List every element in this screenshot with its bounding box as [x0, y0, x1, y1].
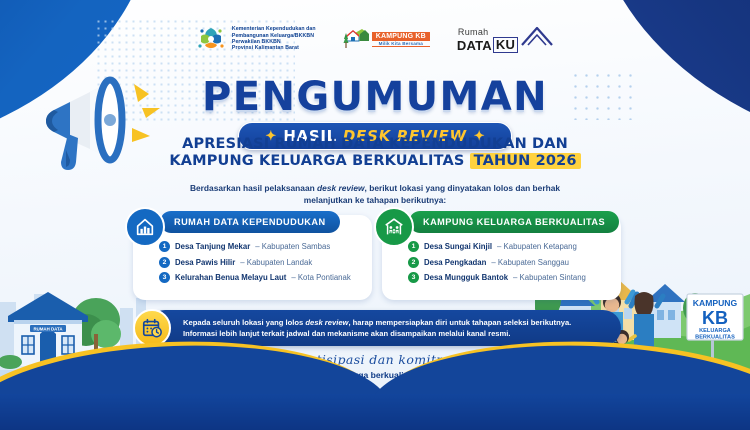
- svg-text:RUMAH DATA: RUMAH DATA: [33, 327, 63, 332]
- list-item: 1 Desa Tanjung Mekar – Kabupaten Sambas: [159, 241, 366, 252]
- notice-line-1-part-1: Kepada seluruh lokasi yang lolos: [183, 318, 305, 327]
- house-chart-icon: [125, 207, 165, 247]
- list-item: 1 Desa Sungai Kinjil – Kabupaten Ketapan…: [408, 241, 615, 252]
- item-number: 2: [408, 257, 419, 268]
- list-item: 3 Desa Mungguk Bantok – Kabupaten Sintan…: [408, 272, 615, 283]
- item-number: 1: [159, 241, 170, 252]
- svg-text:KAMPUNG: KAMPUNG: [693, 298, 738, 308]
- item-number: 1: [408, 241, 419, 252]
- results-cards: RUMAH DATA KEPENDUDUKAN 1 Desa Tanjung M…: [133, 215, 621, 300]
- page-title: PENGUMUMAN: [0, 74, 750, 120]
- item-name: Kelurahan Benua Melayu Laut: [175, 273, 286, 282]
- rumah-dataku-ku-text: KU: [493, 37, 518, 53]
- bkkbn-logo: Kementerian Kependudukan dan Pembangunan…: [196, 24, 316, 54]
- svg-text:KELUARGA: KELUARGA: [699, 328, 731, 334]
- kampung-kb-logo-title: KAMPUNG KB: [372, 32, 430, 41]
- card-rumah-data-kependudukan: RUMAH DATA KEPENDUDUKAN 1 Desa Tanjung M…: [133, 215, 372, 300]
- notice-banner: Kepada seluruh lokasi yang lolos desk re…: [147, 310, 621, 346]
- list-item: 2 Desa Pengkadan – Kabupaten Sanggau: [408, 257, 615, 268]
- notice-line-1: Kepada seluruh lokasi yang lolos desk re…: [183, 317, 571, 329]
- item-region: – Kabupaten Ketapang: [497, 242, 577, 251]
- lead-paragraph: Berdasarkan hasil pelaksanaan desk revie…: [165, 182, 585, 206]
- item-name: Desa Pawis Hilir: [175, 258, 235, 267]
- svg-text:KB: KB: [702, 308, 728, 328]
- logo-bar: Kementerian Kependudukan dan Pembangunan…: [0, 24, 750, 54]
- rumah-dataku-data-text: DATA: [457, 39, 492, 52]
- rumah-dataku-house-icon: [520, 25, 554, 47]
- notice-line-1-part-2: , harap mempersiapkan diri untuk tahapan…: [348, 318, 571, 327]
- list-item: 2 Desa Pawis Hilir – Kabupaten Landak: [159, 257, 366, 268]
- kampung-kb-logo: KAMPUNG KB Milik Kita Bersama: [340, 25, 433, 53]
- item-name: Desa Pengkadan: [424, 258, 486, 267]
- item-region: – Kota Pontianak: [291, 273, 350, 282]
- rumah-dataku-rumah-text: Rumah: [458, 28, 518, 37]
- item-name: Desa Mungguk Bantok: [424, 273, 508, 282]
- bkkbn-logo-text: Kementerian Kependudukan dan Pembangunan…: [232, 26, 316, 52]
- item-number: 3: [408, 272, 419, 283]
- card-title-kampung-kb: KAMPUNG KELUARGA BERKUALITAS: [409, 211, 619, 233]
- subtitle-block: APRESIASI RUMAH DATA KEPENDUDUKAN DAN KA…: [0, 136, 750, 170]
- rumah-dataku-logo: Rumah DATA KU: [457, 25, 554, 53]
- bkkbn-emblem-icon: [196, 24, 226, 54]
- subtitle-line-1: APRESIASI RUMAH DATA KEPENDUDUKAN DAN: [0, 136, 750, 153]
- notice-line-2: Informasi lebih lanjut terkait jadwal da…: [183, 328, 571, 340]
- svg-text:BERKUALITAS: BERKUALITAS: [695, 335, 735, 341]
- item-region: – Kabupaten Sambas: [255, 242, 330, 251]
- item-region: – Kabupaten Landak: [240, 258, 312, 267]
- kampung-kb-logo-tagline: Milik Kita Bersama: [372, 41, 430, 47]
- subtitle-line-2: KAMPUNG KELUARGA BERKUALITAS: [169, 153, 464, 169]
- announcement-poster: Kementerian Kependudukan dan Pembangunan…: [0, 0, 750, 430]
- item-number: 2: [159, 257, 170, 268]
- item-name: Desa Sungai Kinjil: [424, 242, 492, 251]
- list-item: 3 Kelurahan Benua Melayu Laut – Kota Pon…: [159, 272, 366, 283]
- card-kampung-keluarga-berkualitas: KAMPUNG KELUARGA BERKUALITAS 1 Desa Sung…: [382, 215, 621, 300]
- item-region: – Kabupaten Sintang: [513, 273, 586, 282]
- item-name: Desa Tanjung Mekar: [175, 242, 250, 251]
- item-region: – Kabupaten Sanggau: [491, 258, 569, 267]
- subtitle-year-highlight: TAHUN 2026: [470, 153, 581, 169]
- kampung-kb-art-icon: [343, 27, 369, 51]
- card-title-rumah-data: RUMAH DATA KEPENDUDUKAN: [160, 211, 340, 233]
- lead-italic: desk review: [317, 183, 365, 193]
- family-house-icon: [374, 207, 414, 247]
- bottom-bar: [0, 394, 750, 430]
- item-number: 3: [159, 272, 170, 283]
- notice-line-1-italic: desk review: [305, 318, 348, 327]
- lead-part-1: Berdasarkan hasil pelaksanaan: [190, 183, 317, 193]
